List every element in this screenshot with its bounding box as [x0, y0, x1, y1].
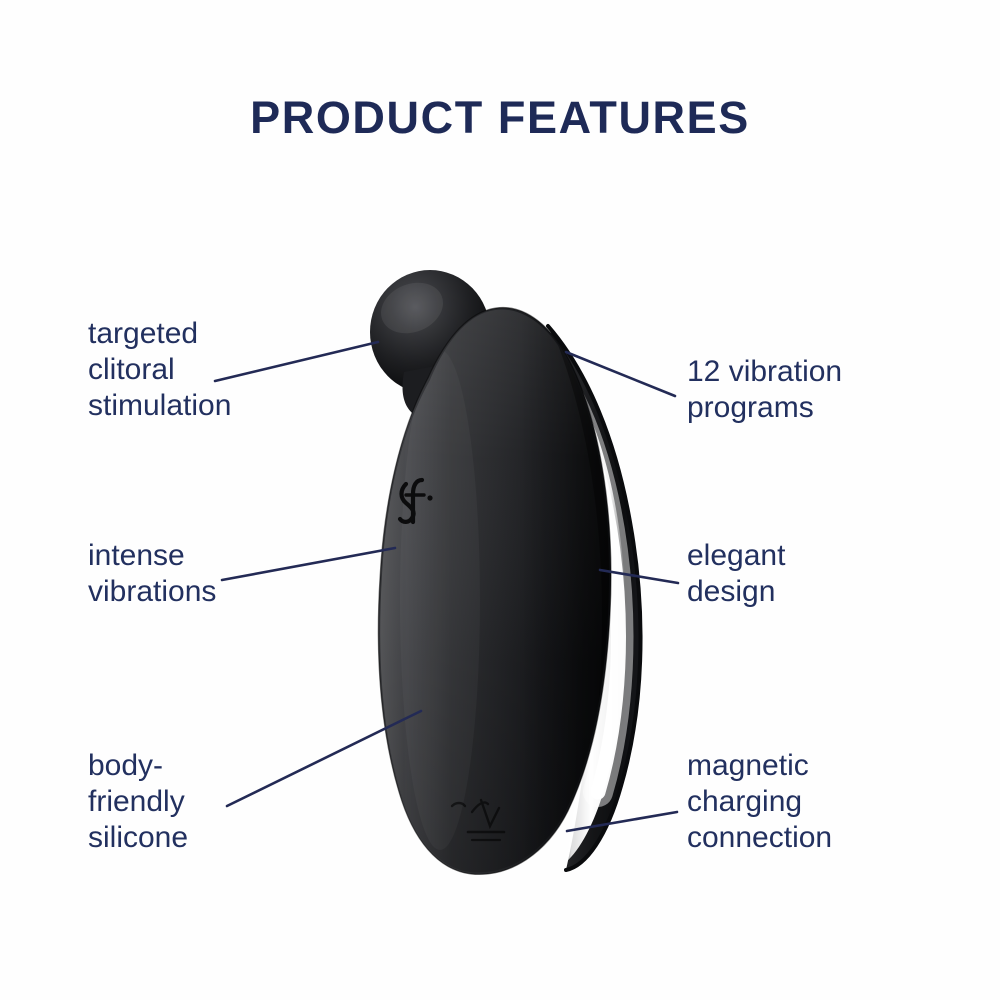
feature-label-body-friendly-silicone: body- friendly silicone	[88, 748, 188, 856]
feature-label-12-vibration-programs: 12 vibration programs	[687, 354, 842, 426]
feature-label-intense-vibrations: intense vibrations	[88, 538, 216, 610]
feature-label-elegant-design: elegant design	[687, 538, 785, 610]
product-features-page: PRODUCT FEATURES	[0, 0, 1000, 1000]
feature-label-targeted-clitoral-stimulation: targeted clitoral stimulation	[88, 316, 231, 424]
feature-label-magnetic-charging-connection: magnetic charging connection	[687, 748, 832, 856]
